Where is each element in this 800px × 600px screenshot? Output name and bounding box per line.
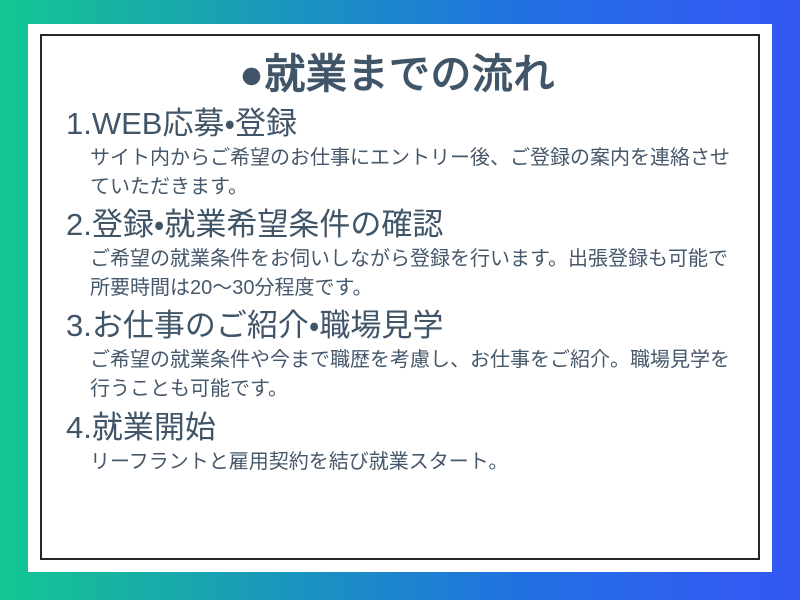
step-body-1: サイト内からご希望のお仕事にエントリー後、ご登録の案内を連絡させていただきます。 xyxy=(58,143,736,201)
step-body-2: ご希望の就業条件をお伺いしながら登録を行います。出張登録も可能で所要時間は20〜… xyxy=(58,244,736,302)
step-item: 2.登録・就業希望条件の確認 ご希望の就業条件をお伺いしながら登録を行います。出… xyxy=(58,205,736,302)
step-heading-1: 1.WEB応募・登録 xyxy=(58,104,736,143)
step-heading-2: 2.登録・就業希望条件の確認 xyxy=(58,205,736,244)
step-body-3: ご希望の就業条件や今まで職歴を考慮し、お仕事をご紹介。職場見学を行うことも可能で… xyxy=(58,345,736,403)
step-item: 3.お仕事のご紹介・職場見学 ご希望の就業条件や今まで職歴を考慮し、お仕事をご紹… xyxy=(58,306,736,403)
step-body-4: リーフラントと雇用契約を結び就業スタート。 xyxy=(58,447,736,477)
step-heading-3: 3.お仕事のご紹介・職場見学 xyxy=(58,306,736,345)
step-item: 1.WEB応募・登録 サイト内からご希望のお仕事にエントリー後、ご登録の案内を連… xyxy=(58,104,736,201)
step-heading-4: 4.就業開始 xyxy=(58,408,736,447)
step-item: 4.就業開始 リーフラントと雇用契約を結び就業スタート。 xyxy=(58,408,736,477)
page-title: ●就業までの流れ xyxy=(58,46,736,100)
inner-border-frame: ●就業までの流れ 1.WEB応募・登録 サイト内からご希望のお仕事にエントリー後… xyxy=(40,34,760,560)
gradient-border-frame: ●就業までの流れ 1.WEB応募・登録 サイト内からご希望のお仕事にエントリー後… xyxy=(0,0,800,600)
white-card: ●就業までの流れ 1.WEB応募・登録 サイト内からご希望のお仕事にエントリー後… xyxy=(28,24,772,572)
steps-list: 1.WEB応募・登録 サイト内からご希望のお仕事にエントリー後、ご登録の案内を連… xyxy=(58,100,736,476)
